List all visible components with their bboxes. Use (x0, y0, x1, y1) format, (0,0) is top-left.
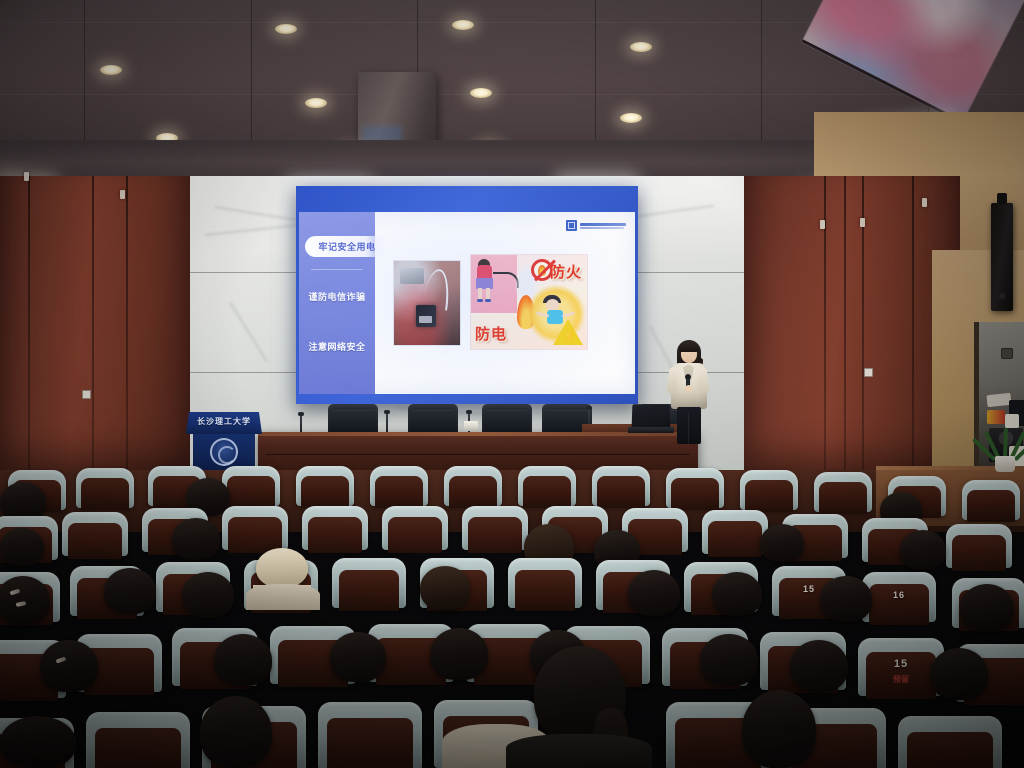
burned-charger-photo (393, 260, 461, 346)
seat-number-label: 16 (893, 590, 905, 600)
slide-sidebar: 牢记安全用电 谨防电信诈骗 注意网络安全 (299, 212, 375, 394)
panel-latch (120, 190, 125, 199)
auditorium-seat[interactable] (592, 466, 650, 506)
auditorium-seat[interactable] (444, 466, 502, 506)
audience-head (820, 576, 872, 622)
audience-head (760, 524, 804, 562)
slide-topic-item: 注意网络安全 (299, 340, 375, 353)
audience-head (420, 566, 470, 610)
ceiling-downlight (470, 88, 492, 98)
hair-clip (10, 589, 21, 596)
ceiling-downlight (620, 113, 642, 123)
audience-head (0, 576, 50, 624)
electric-hazard-icon (553, 319, 583, 345)
auditorium-seat[interactable] (382, 506, 448, 550)
auditorium-seat[interactable] (76, 468, 134, 508)
audience-head (930, 648, 988, 700)
audience-head (700, 634, 758, 686)
panel-latch (24, 172, 29, 181)
seat-number-label: 15 (803, 584, 815, 594)
door-room-frame (1001, 348, 1013, 359)
wall-speaker-icon (991, 203, 1013, 311)
auditorium-seat[interactable] (62, 512, 128, 556)
ceiling-downlight (100, 65, 122, 75)
ceiling-downlight (452, 20, 474, 30)
audience-head (172, 518, 220, 560)
right-wood-wall-panel (744, 176, 960, 476)
left-wood-wall-panel (0, 176, 190, 476)
auditorium-seat[interactable] (370, 466, 428, 506)
audience-head (0, 716, 76, 768)
panel-latch (922, 198, 927, 207)
potted-plant (986, 398, 1024, 472)
table-nameplate (464, 421, 478, 431)
university-emblem-icon (210, 438, 238, 466)
seat-number-label: 15 (894, 658, 908, 670)
wall-switch[interactable] (82, 390, 91, 399)
projection-screen: 牢记安全用电 谨防电信诈骗 注意网络安全 (296, 186, 638, 404)
audience-head (430, 628, 488, 680)
audience-head-with-cap (256, 548, 308, 588)
auditorium-seat[interactable] (222, 466, 280, 506)
auditorium-seat[interactable] (946, 524, 1012, 568)
audience-head (182, 572, 234, 618)
auditorium-seat[interactable] (518, 466, 576, 506)
audience-head (0, 528, 44, 566)
podium-university-name: 长沙理工大学 (186, 416, 262, 427)
audience-head (200, 696, 272, 768)
poster-fire-label: 防火 (550, 261, 582, 282)
auditorium-seat[interactable] (296, 466, 354, 506)
auditorium-scene: 牢记安全用电 谨防电信诈骗 注意网络安全 (0, 0, 1024, 768)
audience-head (628, 570, 680, 616)
hair-clip (56, 656, 67, 663)
auditorium-seat[interactable] (962, 480, 1020, 520)
slide-active-topic-label: 牢记安全用电 (318, 240, 375, 253)
audience-head (790, 640, 848, 692)
auditorium-seat[interactable] (666, 468, 724, 508)
audience-head (712, 572, 762, 616)
auditorium-seat[interactable] (462, 506, 528, 550)
ceiling-downlight (305, 98, 327, 108)
auditorium-seat[interactable] (814, 472, 872, 512)
audience-head (330, 632, 386, 682)
wall-switch[interactable] (864, 368, 873, 377)
auditorium-seat[interactable] (702, 510, 768, 554)
audience-head (960, 584, 1014, 632)
presentation-slide: 牢记安全用电 谨防电信诈骗 注意网络安全 (299, 212, 635, 394)
auditorium-seat[interactable] (86, 712, 190, 768)
auditorium-seat[interactable]: 16 (862, 572, 936, 622)
hair-clip (16, 601, 27, 607)
slide-topic-item: 谨防电信诈骗 (299, 290, 375, 303)
auditorium-seat[interactable] (222, 506, 288, 550)
audience-head (742, 690, 816, 768)
ceiling-downlight (630, 42, 652, 52)
auditorium-seat[interactable] (318, 702, 422, 768)
auditorium-seat[interactable] (332, 558, 406, 608)
auditorium-seat[interactable] (302, 506, 368, 550)
auditorium-seat[interactable] (740, 470, 798, 510)
ceiling-downlight (275, 24, 297, 34)
logo-mark-icon (566, 220, 577, 231)
audience-shoulders (246, 584, 320, 610)
presenter (668, 340, 710, 444)
audience-head (900, 530, 946, 570)
safety-poster-illustration: 防火 防电 (470, 254, 588, 350)
auditorium-seat[interactable] (508, 558, 582, 608)
auditorium-seat[interactable] (898, 716, 1002, 768)
slide-university-logo (566, 220, 626, 231)
audience-head (40, 640, 98, 692)
audience-head (214, 634, 272, 686)
audience-shoulders (506, 734, 652, 768)
poster-electric-label: 防电 (475, 323, 507, 344)
audience-head (104, 568, 156, 614)
panel-latch (860, 218, 865, 227)
slide-content-area: 防火 防电 (375, 212, 635, 394)
panel-latch (820, 220, 825, 229)
seat-reserved-note: 预留 (893, 674, 909, 685)
